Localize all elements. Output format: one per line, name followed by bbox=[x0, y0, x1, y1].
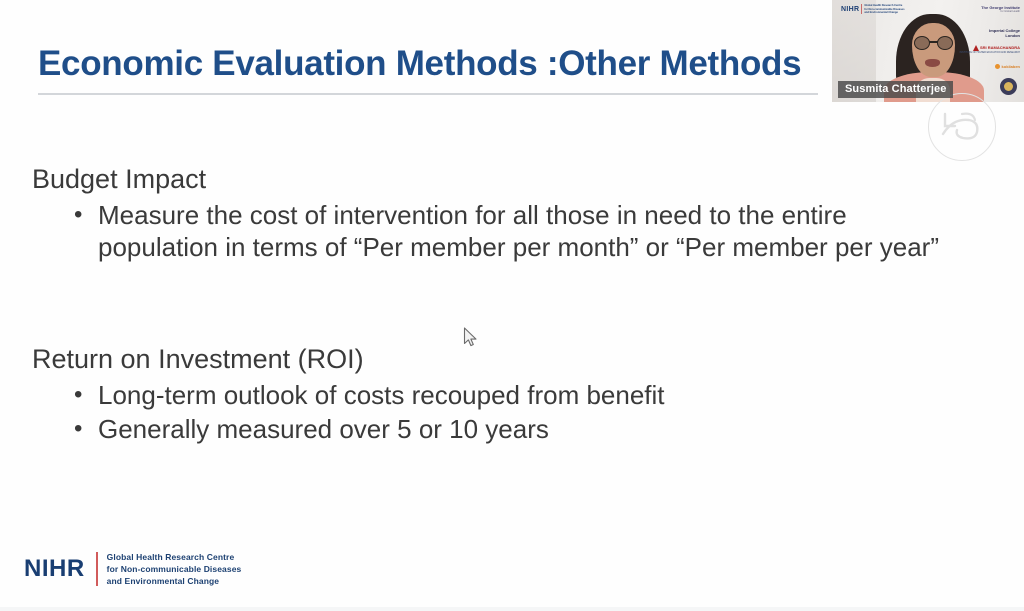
list-item: • Generally measured over 5 or 10 years bbox=[72, 413, 962, 445]
video-nihr-tagline-line-3: and Environmental Change bbox=[864, 11, 898, 14]
bullet-point-icon: • bbox=[74, 199, 82, 230]
logo-divider bbox=[96, 552, 98, 586]
partner-logo-sri-ramachandra: SRI RAMACHANDRA INSTITUTE OF HIGHER EDUC… bbox=[960, 45, 1020, 54]
bullet-point-icon: • bbox=[74, 413, 82, 444]
partner-subtitle: London bbox=[989, 33, 1020, 38]
participant-face bbox=[912, 23, 955, 77]
nihr-logo: NIHR Global Health Research Centre for N… bbox=[24, 551, 241, 587]
circle-icon bbox=[995, 64, 1000, 69]
video-logo-divider bbox=[861, 4, 862, 14]
section-return-on-investment: Return on Investment (ROI) • Long-term o… bbox=[32, 343, 962, 445]
circular-watermark-icon bbox=[928, 93, 996, 161]
content-spacer bbox=[32, 265, 962, 343]
nihr-tagline-line-2: for Non-communicable Diseases bbox=[107, 563, 242, 575]
section-heading: Budget Impact bbox=[32, 163, 962, 197]
section-budget-impact: Budget Impact • Measure the cost of inte… bbox=[32, 163, 962, 263]
partner-name: kokilaben bbox=[995, 64, 1020, 69]
glasses-icon bbox=[913, 36, 954, 48]
partner-subtitle: INSTITUTE OF HIGHER EDUCATION AND RESEAR… bbox=[960, 51, 1020, 54]
slide-bottom-strip bbox=[0, 607, 1024, 611]
presentation-slide: Economic Evaluation Methods :Other Metho… bbox=[0, 0, 1024, 611]
list-item-text: Generally measured over 5 or 10 years bbox=[98, 414, 549, 444]
list-item: • Measure the cost of intervention for a… bbox=[72, 199, 962, 263]
nihr-tagline-line-3: and Environmental Change bbox=[107, 575, 242, 587]
nihr-tagline: Global Health Research Centre for Non-co… bbox=[107, 551, 242, 587]
title-divider bbox=[38, 93, 818, 95]
list-item-text: Measure the cost of intervention for all… bbox=[98, 200, 939, 262]
nihr-tagline-line-1: Global Health Research Centre bbox=[107, 551, 242, 563]
title-block: Economic Evaluation Methods :Other Metho… bbox=[38, 45, 828, 95]
list-item: • Long-term outlook of costs recouped fr… bbox=[72, 379, 962, 411]
bullet-point-icon: • bbox=[74, 379, 82, 410]
bullet-list: • Long-term outlook of costs recouped fr… bbox=[32, 379, 962, 445]
section-heading: Return on Investment (ROI) bbox=[32, 343, 962, 377]
partner-subtitle: for Global Health bbox=[981, 10, 1020, 13]
page-title: Economic Evaluation Methods :Other Metho… bbox=[38, 45, 828, 84]
nihr-brand-text: NIHR bbox=[24, 555, 85, 583]
list-item-text: Long-term outlook of costs recouped from… bbox=[98, 380, 665, 410]
video-participant-tile[interactable]: NIHR Global Health Research Centre for N… bbox=[832, 0, 1024, 102]
partner-seal-icon bbox=[1000, 78, 1017, 95]
video-nihr-brand-text: NIHR bbox=[841, 6, 859, 13]
video-nihr-logo: NIHR Global Health Research Centre for N… bbox=[841, 4, 905, 15]
participant-name-badge: Susmita Chatterjee bbox=[838, 81, 953, 98]
bullet-list: • Measure the cost of intervention for a… bbox=[32, 199, 962, 263]
participant-mouth bbox=[925, 59, 940, 67]
partner-logo-imperial-college: Imperial College London bbox=[989, 28, 1020, 38]
slide-content: Budget Impact • Measure the cost of inte… bbox=[32, 163, 962, 447]
video-nihr-tagline: Global Health Research Centre for Non-co… bbox=[864, 4, 904, 15]
partner-logo-kokilaben: kokilaben bbox=[995, 64, 1020, 69]
partner-logo-george-institute: The George Institute for Global Health bbox=[981, 5, 1020, 13]
